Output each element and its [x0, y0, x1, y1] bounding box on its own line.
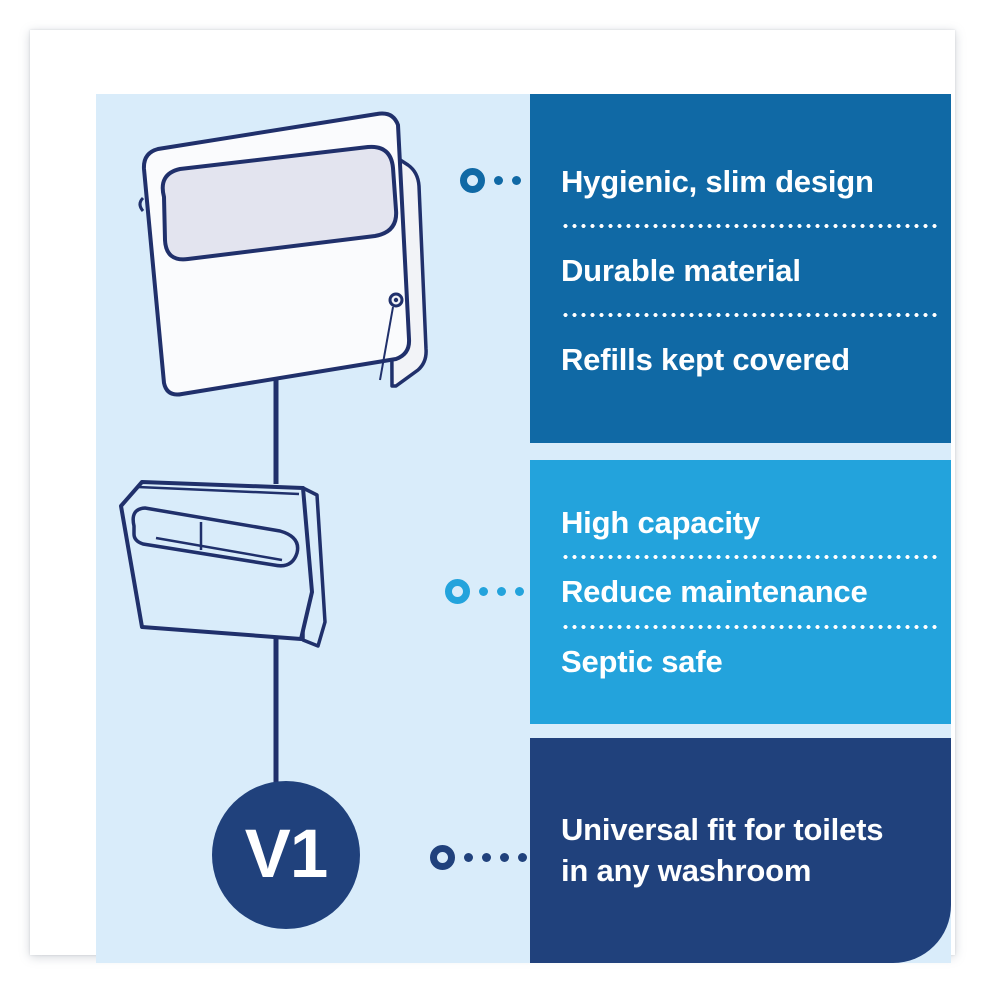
connector-panel-1 [460, 168, 521, 193]
connector-panel-3 [430, 845, 527, 870]
infographic-canvas: V1 [96, 94, 951, 963]
dot-icon [494, 176, 503, 185]
illustration-column: V1 [96, 94, 530, 963]
feature-item: Septic safe [561, 643, 937, 680]
panel-features-primary: Hygienic, slim design Durable material R… [530, 94, 951, 443]
feature-item: Refills kept covered [561, 341, 937, 378]
dot-icon [515, 587, 524, 596]
dot-icon [482, 853, 491, 862]
dot-icon [518, 853, 527, 862]
ring-icon [445, 579, 470, 604]
dot-icon [464, 853, 473, 862]
feature-item: High capacity [561, 504, 937, 541]
feature-divider [561, 224, 937, 228]
feature-divider [561, 625, 937, 629]
feature-item: Universal fit for toilets in any washroo… [561, 810, 937, 891]
product-info-card: V1 [30, 30, 955, 955]
connector-panel-2 [445, 579, 524, 604]
feature-item: Reduce maintenance [561, 573, 937, 610]
feature-item: Durable material [561, 252, 937, 289]
dot-icon [479, 587, 488, 596]
feature-item: Hygienic, slim design [561, 163, 937, 200]
dot-icon [500, 853, 509, 862]
ring-icon [430, 845, 455, 870]
toilet-seat-cover-dispenser-icon [140, 113, 426, 394]
toilet-seat-cover-sheet-icon [121, 482, 325, 646]
feature-divider [561, 313, 937, 317]
dot-icon [497, 587, 506, 596]
version-badge: V1 [212, 781, 360, 929]
infographic-stage: V1 [0, 0, 1000, 1000]
version-badge-label: V1 [245, 819, 327, 888]
feature-divider [561, 555, 937, 559]
panel-features-secondary: High capacity Reduce maintenance Septic … [530, 460, 951, 724]
ring-icon [460, 168, 485, 193]
dot-icon [512, 176, 521, 185]
panel-features-tertiary: Universal fit for toilets in any washroo… [530, 738, 951, 963]
